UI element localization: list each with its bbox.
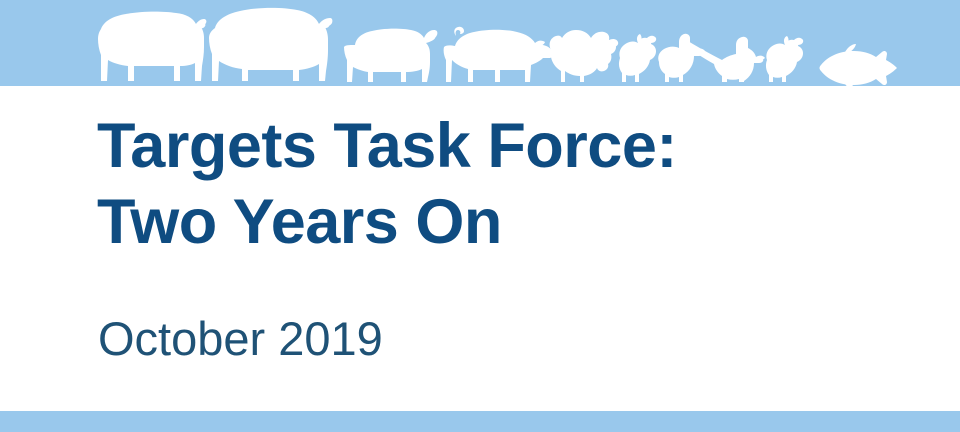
- title-line-1: Targets Task Force:: [97, 108, 927, 184]
- dairy-cattle-icon: [209, 8, 332, 81]
- livestock-silhouette-frieze: [0, 0, 960, 86]
- beef-cattle-icon: [98, 12, 206, 81]
- header-banner: [0, 0, 960, 86]
- pig-icon: [444, 27, 554, 82]
- hen-icon: [766, 36, 803, 82]
- report-cover-page: Targets Task Force: Two Years On October…: [0, 0, 960, 432]
- chicken-icon: [619, 34, 656, 82]
- footer-accent-bar: [0, 411, 960, 432]
- title-line-2: Two Years On: [97, 184, 927, 260]
- sheep-icon: [344, 29, 437, 82]
- page-subtitle-date: October 2019: [98, 311, 383, 367]
- turkey-icon: [548, 30, 618, 82]
- fish-icon: [820, 44, 898, 86]
- page-title: Targets Task Force: Two Years On: [97, 108, 927, 260]
